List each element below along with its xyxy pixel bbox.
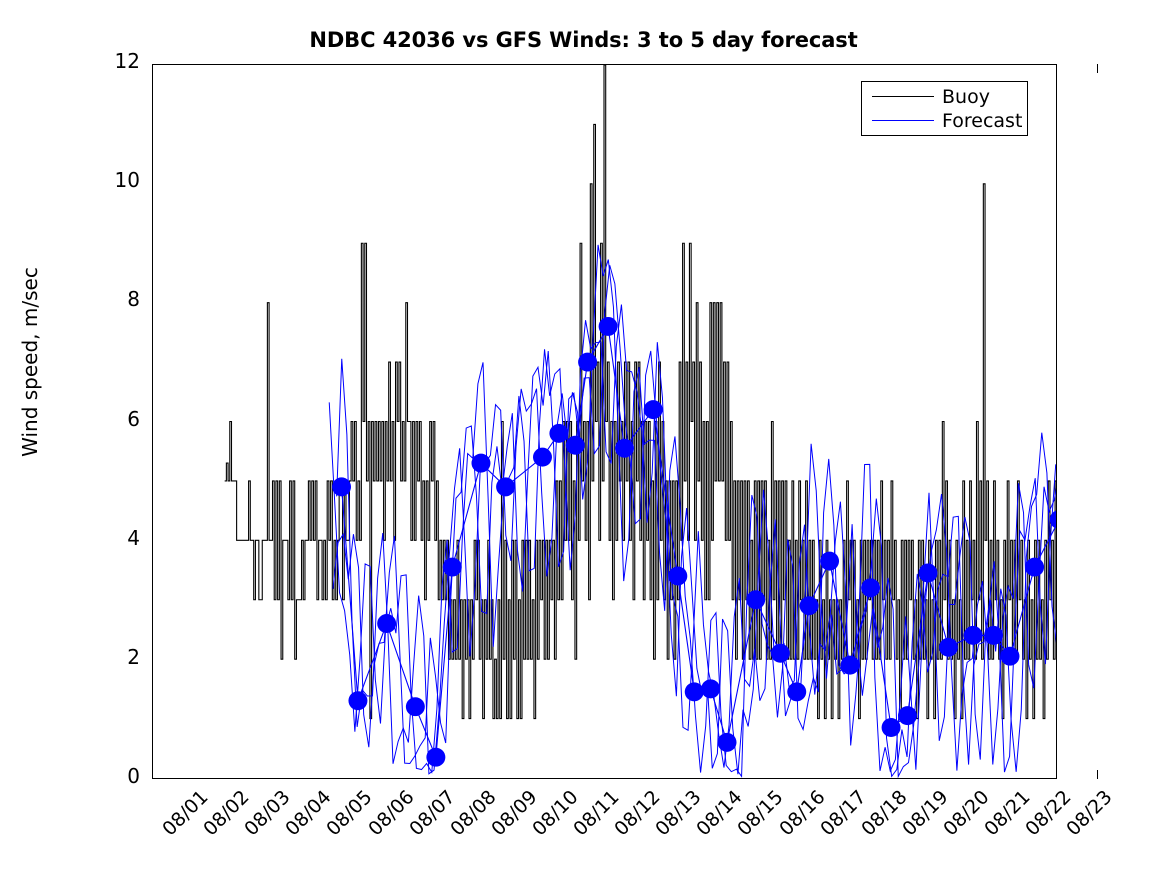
y-tick-label: 10 — [100, 170, 140, 190]
forecast-marker-point — [406, 697, 425, 716]
forecast-marker-point — [685, 682, 704, 701]
legend-item-buoy: Buoy — [862, 85, 1029, 109]
y-tick-label: 6 — [100, 409, 140, 429]
forecast-marker-point — [426, 748, 445, 767]
x-tick-mark — [1097, 770, 1098, 779]
x-tick-mark-top — [1097, 64, 1098, 73]
forecast-marker-point — [771, 644, 790, 663]
forecast-marker-point — [800, 596, 819, 615]
forecast-marker-point — [332, 477, 351, 496]
forecast-marker-point — [644, 400, 663, 419]
forecast-marker-point — [861, 578, 880, 597]
forecast-marker-point — [549, 424, 568, 443]
y-axis-label: Wind speed, m/sec — [18, 112, 42, 612]
forecast-marker-point — [578, 353, 597, 372]
forecast-marker-point — [1050, 510, 1056, 529]
forecast-marker-point — [348, 691, 367, 710]
forecast-marker-point — [1025, 558, 1044, 577]
y-tick-label: 0 — [100, 766, 140, 786]
chart-canvas — [153, 65, 1056, 778]
y-tick-label: 4 — [100, 528, 140, 548]
legend-swatch-forecast — [872, 120, 934, 121]
page-title: NDBC 42036 vs GFS Winds: 3 to 5 day fore… — [0, 28, 1167, 52]
forecast-marker-point — [496, 477, 515, 496]
legend-item-forecast: Forecast — [862, 109, 1029, 133]
y-tick-label: 12 — [100, 51, 140, 71]
forecast-marker-point — [984, 626, 1003, 645]
figure-canvas: NDBC 42036 vs GFS Winds: 3 to 5 day fore… — [0, 0, 1167, 875]
forecast-marker-point — [898, 706, 917, 725]
legend-label-forecast: Forecast — [942, 109, 1022, 133]
forecast-marker-point — [668, 567, 687, 586]
forecast-marker-point — [471, 454, 490, 473]
forecast-marker-point — [377, 614, 396, 633]
forecast-marker-point — [918, 564, 937, 583]
forecast-marker-point — [746, 590, 765, 609]
plot-area — [152, 64, 1057, 779]
forecast-marker-point — [443, 558, 462, 577]
forecast-marker-point — [841, 656, 860, 675]
legend-swatch-buoy — [872, 96, 934, 97]
forecast-marker-point — [566, 436, 585, 455]
forecast-marker-point — [964, 626, 983, 645]
forecast-marker-point — [701, 679, 720, 698]
y-tick-label: 8 — [100, 289, 140, 309]
y-tick-label: 2 — [100, 647, 140, 667]
forecast-marker-point — [533, 448, 552, 467]
forecast-marker-point — [882, 718, 901, 737]
chart-legend: Buoy Forecast — [861, 81, 1028, 136]
forecast-marker-point — [1001, 647, 1020, 666]
forecast-marker-point — [718, 733, 737, 752]
legend-label-buoy: Buoy — [942, 85, 990, 109]
forecast-marker-point — [787, 682, 806, 701]
forecast-marker-point — [615, 439, 634, 458]
forecast-marker-point — [820, 552, 839, 571]
forecast-marker-point — [599, 317, 618, 336]
forecast-marker-point — [939, 638, 958, 657]
